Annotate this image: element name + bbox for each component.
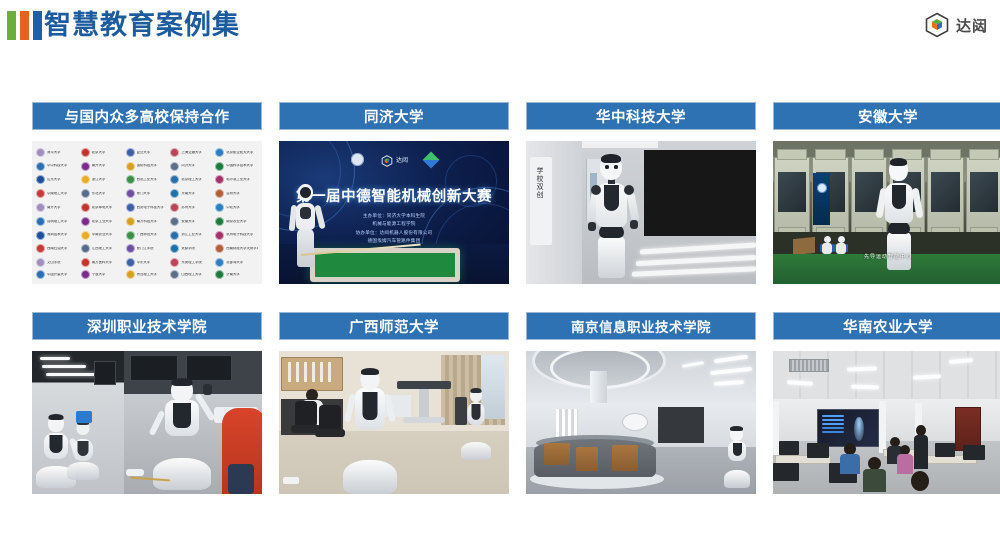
university-logo-item: 华东大学 [126,256,169,269]
university-logo-item: 吉林大学 [215,187,258,200]
poster-brand-name: 达闼 [396,155,408,164]
slide-header: 智慧教育案例集 达闼 [0,0,1000,56]
university-seal-icon [215,217,224,226]
university-logo-item: 华南农业大学 [81,229,124,242]
university-seal-icon [126,175,135,184]
university-name: 南京农业大学 [226,220,246,223]
university-logo-item: 中北大学 [215,201,258,214]
case-media-guangxi-normal [279,351,509,494]
university-logo-item: 浙江大学 [81,174,124,187]
accent-bars-icon [7,11,42,40]
university-seal-icon [126,189,135,198]
university-logo-wall: 清华大学北京大学复旦大学上海交通大学北京航空航天大学华中科技大学南开大学国防科技… [32,141,262,284]
university-name: 南开大学 [47,206,61,209]
university-name: 安徽大学 [181,220,195,223]
university-seal-icon [36,175,45,184]
photo-computer-classroom [773,351,1000,494]
case-card-shenzhen-poly[interactable]: 深圳职业技术学院 [32,312,262,494]
lab-cabinet [927,157,963,241]
university-name: 东北大学 [92,192,106,195]
university-name: 同济大学 [181,164,195,167]
university-name: 济南大学 [226,273,240,276]
university-seal-icon [81,148,90,157]
case-media-scau [773,351,1000,494]
university-name: 北京航空航天大学 [226,151,253,154]
university-logo-item: 哈尔滨工业大学 [215,174,258,187]
university-seal-icon [215,175,224,184]
university-name: 中国科学技术大学 [226,164,253,167]
university-logo-item: 南京农业大学 [215,215,258,228]
university-seal-icon [215,258,224,267]
case-row-1: 与国内众多高校保持合作 清华大学北京大学复旦大学上海交通大学北京航空航天大学华中… [32,102,968,284]
university-name: 复旦大学 [137,151,151,154]
university-name: 厦门大学 [137,192,151,195]
university-seal-icon [126,244,135,253]
brand-logo: 达闼 [924,12,988,38]
university-name: 国防科技大学 [137,164,157,167]
university-seal-icon [36,162,45,171]
university-seal-icon [170,217,179,226]
university-logo-item: 浙江工业大学 [170,229,213,242]
university-seal-icon [126,162,135,171]
case-media-shenzhen-poly [32,351,262,494]
university-seal-icon [126,148,135,157]
university-logo-item: 宁波大学 [81,270,124,279]
university-name: 东南大学 [181,192,195,195]
university-name: 太原学院 [181,247,195,250]
university-seal-icon [81,162,90,171]
university-name: 华中科技大学 [47,164,67,167]
university-logo-item: 山东大学 [36,174,79,187]
case-card-tongji[interactable]: 同济大学 [279,102,509,284]
university-name: 北京大学 [92,151,106,154]
photo-caption: 先导运动智能中心 [773,253,1000,260]
university-seal-icon [36,270,45,279]
photo-robot-corridor: 学校双创 [526,141,756,284]
hexagon-cube-logo-icon [381,154,393,166]
case-banner-nanjing-vocational: 南京信息职业技术学院 [526,312,756,340]
university-seal-icon [81,270,90,279]
university-logo-item: 中国科学技术大学 [215,160,258,173]
university-name: 青岛理工大学 [137,273,157,276]
lab-cabinet [774,157,810,241]
university-name: 北京工业大学 [92,220,112,223]
slide-page: 智慧教育案例集 达闼 与国内众多高校保持合作 清华大学北京大学复旦大学上海交通大… [0,0,1000,538]
case-row-2: 深圳职业技术学院 [32,312,968,494]
case-banner-hust: 华中科技大学 [526,102,756,130]
case-grid: 与国内众多高校保持合作 清华大学北京大学复旦大学上海交通大学北京航空航天大学华中… [32,102,968,494]
university-seal-icon [170,189,179,198]
competition-poster: 达闼 第一届中德智能机械创新大赛 主办单位：同济大学本科生院机械与能源工程学院协… [279,141,509,284]
university-name: 华东大学 [137,261,151,264]
university-seal-icon [170,148,179,157]
university-logo-item: 西安电子科技大学 [126,201,169,214]
case-banner-shenzhen-poly: 深圳职业技术学院 [32,312,262,340]
person-figure [861,457,887,491]
university-seal-icon [351,153,364,166]
university-name: 厦门江学院 [137,247,154,250]
university-logo-item: 厦门大学 [126,187,169,200]
university-seal-icon [81,203,90,212]
photo-circular-hall [526,351,756,494]
university-name: 吉林大学 [226,192,240,195]
university-seal-icon [36,231,45,240]
university-name: 浙江大学 [92,178,106,181]
university-seal-icon [126,258,135,267]
university-seal-icon [170,162,179,171]
university-logo-item: 南开大学 [81,160,124,173]
university-logo-item: 青岛理工大学 [126,270,169,279]
brand-name: 达闼 [956,15,988,36]
university-name: 清华大学 [47,151,61,154]
case-media-nanjing-vocational [526,351,756,494]
university-seal-icon [170,270,179,279]
university-logo-item: 北京理工大学 [170,174,213,187]
poster-logo-row: 达闼 [279,153,509,166]
university-logo-item: 上海交通大学 [170,146,213,159]
university-seal-icon [81,244,90,253]
university-seal-icon [215,231,224,240]
university-name: 浙江工业大学 [181,233,201,236]
hexagon-cube-logo-icon [924,12,950,38]
university-logo-item: 苏州大学 [170,201,213,214]
university-logo-item: 北京邮电大学 [81,201,124,214]
university-logo-item: 北部湾大学 [215,256,258,269]
university-logo-item: 深圳技术大学 [36,229,79,242]
university-logo-item: 北京工业大学 [81,215,124,228]
university-name: 哈尔滨工业大学 [226,178,250,181]
person-figure [913,425,929,467]
university-name: 北京理工大学 [181,178,201,181]
university-logo-item: 北京航空航天大学 [215,146,258,159]
university-logo-item: 安徽大学 [170,215,213,228]
university-logo-item: 广西师范大学 [126,229,169,242]
university-logo-item: 南方医科大学 [81,256,124,269]
university-logo-item: 东南大学 [170,187,213,200]
university-name: 上海交通大学 [181,151,201,154]
university-seal-icon [81,258,90,267]
university-seal-icon [81,217,90,226]
university-logo-item: 昆明理工大学 [36,215,79,228]
person-figure [839,443,861,473]
page-title: 智慧教育案例集 [44,6,240,46]
university-logo-item: 济南大学 [215,270,258,279]
university-seal-icon [126,203,135,212]
university-logo-item: 中国计量大学 [36,270,79,279]
university-name: 山西理工大学 [181,273,201,276]
university-name: 宁波大学 [92,273,106,276]
university-seal-icon [81,231,90,240]
university-seal-icon [170,258,179,267]
person-figure [222,408,262,494]
photo-office-robots [279,351,509,494]
case-banner-scau: 华南农业大学 [773,312,1000,340]
person-figure [907,471,933,494]
university-logo-item: 西北工业大学 [126,174,169,187]
university-seal-icon [215,203,224,212]
university-seal-icon [126,217,135,226]
university-name: 中国计量大学 [47,273,67,276]
university-name: 中北大学 [226,206,240,209]
wall-caption: 学校双创 [532,167,544,199]
university-seal-icon [170,231,179,240]
university-name: 东莞理工学院 [181,261,201,264]
university-logo-item: 杭州电子科技大学 [215,229,258,242]
university-name: 西南石油大学 [47,247,67,250]
photo-robot-lab: 先导运动智能中心 [773,141,1000,284]
case-banner-tongji: 同济大学 [279,102,509,130]
photo-two-robots [32,351,262,494]
university-logo-item: 华南理工大学 [36,187,79,200]
university-logo-item: 江西理工大学 [81,242,124,255]
university-name: 北部湾大学 [226,261,243,264]
university-name: 华南农业大学 [92,233,112,236]
case-card-guangxi-normal[interactable]: 广西师范大学 [279,312,509,494]
robot-figure [459,388,493,460]
university-logo-item: 西南石油大学 [36,242,79,255]
university-logo-item: 同济大学 [170,160,213,173]
university-name: 江西理工大学 [92,247,112,250]
university-seal-icon [126,231,135,240]
case-media-partners: 清华大学北京大学复旦大学上海交通大学北京航空航天大学华中科技大学南开大学国防科技… [32,141,262,284]
university-logo-item: 复旦大学 [126,146,169,159]
university-name: 西北工业大学 [137,178,157,181]
university-logo-item: 文山学院 [36,256,79,269]
robot-figure [337,368,403,494]
university-seal-icon [36,258,45,267]
case-card-anhui[interactable]: 安徽大学 [773,102,1000,284]
university-logo-item: 厦门江学院 [126,242,169,255]
university-name: 昆明理工大学 [47,220,67,223]
university-seal-icon [215,162,224,171]
lab-cabinet [966,157,1000,241]
case-banner-partners: 与国内众多高校保持合作 [32,102,262,130]
university-seal-icon [36,189,45,198]
university-seal-icon [36,217,45,226]
university-logo-item: 东北大学 [81,187,124,200]
university-name: 西安电子科技大学 [137,206,164,209]
case-media-anhui: 先导运动智能中心 [773,141,1000,284]
university-name: 华南理工大学 [47,192,67,195]
university-name: 苏州大学 [181,206,195,209]
robot-figure [586,154,638,280]
university-name: 南方科技大学 [137,220,157,223]
university-seal-icon [215,244,224,253]
university-name: 广西师范大学 [137,233,157,236]
display-screen [817,409,879,447]
university-logo-item: 山西理工大学 [170,270,213,279]
university-seal-icon [36,244,45,253]
university-seal-icon [170,244,179,253]
university-seal-icon [126,270,135,279]
university-seal-icon [81,175,90,184]
case-card-scau[interactable]: 华南农业大学 [773,312,1000,494]
university-seal-icon [215,189,224,198]
university-name: 杭州电子科技大学 [226,233,253,236]
case-banner-guangxi-normal: 广西师范大学 [279,312,509,340]
university-name: 深圳技术大学 [47,233,67,236]
case-card-partners[interactable]: 与国内众多高校保持合作 清华大学北京大学复旦大学上海交通大学北京航空航天大学华中… [32,102,262,284]
university-logo-item: 东莞理工学院 [170,256,213,269]
university-logo-item: 太原学院 [170,242,213,255]
university-seal-icon [170,175,179,184]
university-logo-item: 国防科技大学 [126,160,169,173]
university-seal-icon [215,148,224,157]
case-media-hust: 学校双创 [526,141,756,284]
partner-logo-icon [423,151,440,168]
university-name: 南开大学 [92,164,106,167]
university-seal-icon [36,203,45,212]
university-seal-icon [170,203,179,212]
university-logo-item: 南开大学 [36,201,79,214]
university-seal-icon [215,270,224,279]
person-figure [897,445,913,473]
university-name: 西南财经大学天府学院 [226,247,258,250]
robot-figure [724,426,750,488]
university-logo-item: 清华大学 [36,146,79,159]
university-logo-item: 西南财经大学天府学院 [215,242,258,255]
case-card-nanjing-vocational[interactable]: 南京信息职业技术学院 [526,312,756,494]
university-seal-icon [81,189,90,198]
case-media-tongji: 达闼 第一届中德智能机械创新大赛 主办单位：同济大学本科生院机械与能源工程学院协… [279,141,509,284]
case-banner-anhui: 安徽大学 [773,102,1000,130]
university-name: 山东大学 [47,178,61,181]
university-name: 北京邮电大学 [92,206,112,209]
university-logo-item: 北京大学 [81,146,124,159]
university-name: 文山学院 [47,261,61,264]
university-logo-item: 南方科技大学 [126,215,169,228]
university-name: 南方医科大学 [92,261,112,264]
university-seal-icon [36,148,45,157]
case-card-hust[interactable]: 华中科技大学 学校双创 [526,102,756,284]
university-logo-item: 华中科技大学 [36,160,79,173]
